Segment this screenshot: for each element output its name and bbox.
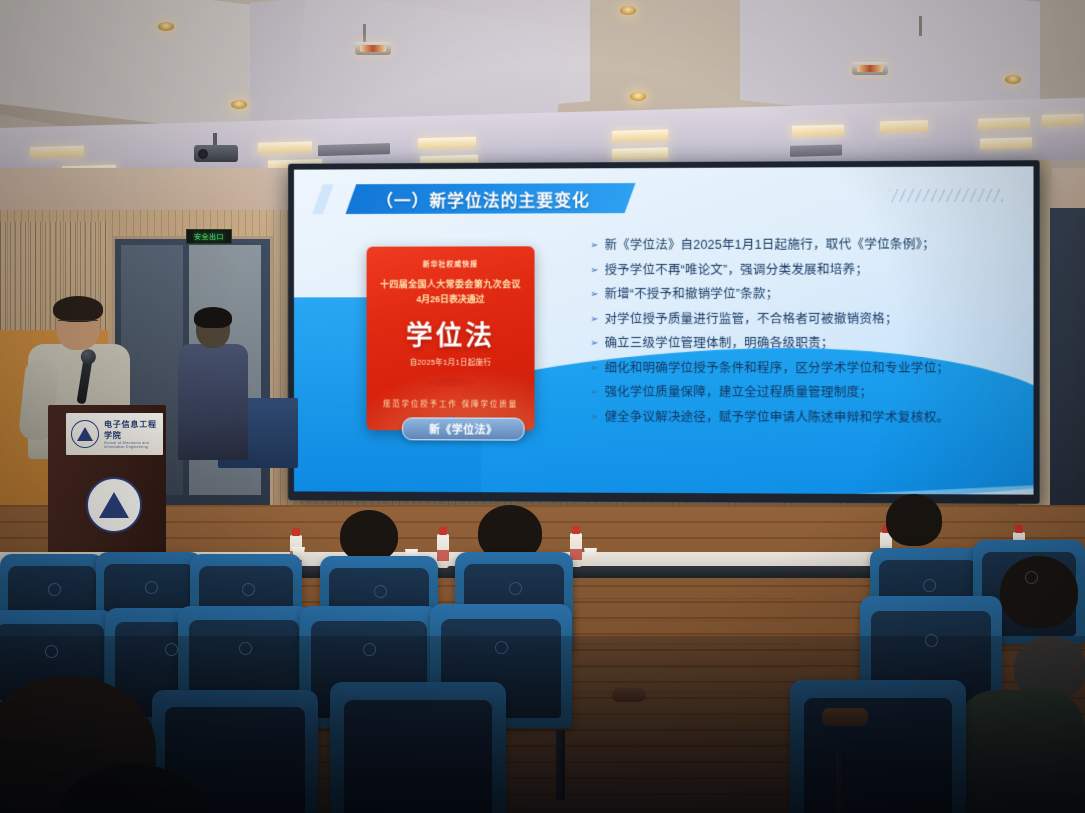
poster-caption-text: 新《学位法》 [429,421,497,437]
conference-hall-room: 安全出口 （一）新学位法的主要变化 新华社权威快报 十四届全国人大常委 [0,0,1085,813]
graduation-cap-base [438,387,464,400]
ceiling-spotlight [630,92,646,101]
right-doorway[interactable] [1050,208,1085,538]
bullet-item: ➢ 新增“不授予和撤销学位”条款； [590,287,1013,302]
podium-nameplate-text: 电子信息工程学院 School of Electronic and Inform… [104,419,163,449]
poster-source-line: 新华社权威快报 [423,259,478,269]
bullet-item: ➢ 确立三级学位管理体制，明确各级职责； [590,336,1013,351]
powerpoint-slide: （一）新学位法的主要变化 新华社权威快报 十四届全国人大常委会第九次会议 4月2… [294,166,1034,494]
seat-detail [374,585,387,598]
audience-head [340,510,398,562]
graduation-cap-top [424,377,477,390]
speaker-hair [53,296,103,322]
ceiling-light-panel [1042,114,1084,126]
ceiling-light-panel [792,124,844,136]
podium-nameplate: 电子信息工程学院 School of Electronic and Inform… [66,413,163,455]
bullet-text: 细化和明确学位授予条件和程序，区分学术学位和专业学位； [605,360,950,375]
seat-detail [509,582,522,595]
bullet-text: 健全争议解决途径，赋予学位申请人陈述申辩和学术复核权。 [605,409,950,425]
bullet-item: ➢ 健全争议解决途径，赋予学位申请人陈述申辩和学术复核权。 [590,409,1013,425]
led-presentation-screen[interactable]: （一）新学位法的主要变化 新华社权威快报 十四届全国人大常委会第九次会议 4月2… [288,160,1040,504]
ceiling-light-panel [30,146,84,159]
poster-slogan: 规范学位授予工作 保障学位质量 [383,399,518,410]
seat-detail [1025,571,1038,584]
seat-detail [48,583,61,596]
bullet-arrow-icon: ➢ [590,238,598,253]
technician-hair [194,307,232,328]
track-light-stem [919,16,922,36]
ceiling-air-vent [790,144,842,156]
ceiling-light-panel [980,137,1032,149]
emergency-exit-sign: 安全出口 [186,229,232,244]
technician-torso [178,344,248,460]
bullet-item: ➢ 强化学位质量保障，建立全过程质量管理制度； [590,385,1013,401]
screenshot-root: 安全出口 （一）新学位法的主要变化 新华社权威快报 十四届全国人大常委 [0,0,1085,813]
slide-title-banner: （一）新学位法的主要变化 [318,182,631,214]
institution-name-en: School of Electronic and Information Eng… [104,441,163,449]
bullet-arrow-icon: ➢ [590,263,598,278]
seat-detail [242,583,255,596]
bullet-arrow-icon: ➢ [590,336,598,351]
paper-cup [584,548,597,561]
seat-detail [145,581,158,594]
speaker-glasses-icon [58,320,98,328]
ceiling-light-panel [978,117,1030,129]
bullet-text: 授予学位不再“唯论文”，强调分类发展和培养； [605,262,869,277]
bullet-arrow-icon: ➢ [590,409,598,424]
seat-detail [923,579,936,592]
audience-head [886,494,942,546]
bullet-item: ➢ 对学位授予质量进行监管，不合格者可被撤销资格； [590,311,1013,326]
ceiling-spotlight [231,100,247,109]
ceiling-spotlight [1005,75,1021,84]
poster-caption-plate: 新《学位法》 [402,417,525,440]
audience-head [1000,556,1078,628]
podium-seal-emblem [86,477,142,533]
title-plate: （一）新学位法的主要变化 [346,183,636,214]
bullet-text: 确立三级学位管理体制，明确各级职责； [605,336,834,351]
projector-lens [198,149,208,159]
institution-name-cn: 电子信息工程学院 [104,419,163,441]
lectern-podium: 电子信息工程学院 School of Electronic and Inform… [48,405,166,565]
bullet-text: 新《学位法》自2025年1月1日起施行，取代《学位条例》； [605,237,935,253]
poster-effective-date: 自2025年1月1日起施行 [410,357,492,368]
poster-session-line-2: 4月26日表决通过 [416,292,484,305]
seat-detail [239,642,252,655]
bullet-text: 对学位授予质量进行监管，不合格者可被撤销资格； [605,311,898,326]
slide-title-text: （一）新学位法的主要变化 [376,185,590,211]
ceiling-spotlight [620,6,636,15]
ceiling-track-light [852,62,888,75]
ceiling-light-panel [880,120,928,132]
ceiling-light-panel [612,129,668,142]
bullet-text: 新增“不授予和撤销学位”条款； [605,287,779,302]
bullet-item: ➢ 授予学位不再“唯论文”，强调分类发展和培养； [590,262,1013,278]
ceiling-light-panel [418,137,476,150]
technician-person [178,310,248,460]
degree-law-poster: 新华社权威快报 十四届全国人大常委会第九次会议 4月26日表决通过 学位法 自2… [367,246,535,430]
poster-law-name: 学位法 [406,314,495,353]
bullet-text: 强化学位质量保障，建立全过程质量管理制度； [605,385,873,400]
bullet-item: ➢ 细化和明确学位授予条件和程序，区分学术学位和专业学位； [590,360,1013,375]
ceiling-projector-icon [186,133,240,163]
exit-sign-label: 安全出口 [194,232,224,242]
bullet-arrow-icon: ➢ [590,360,598,375]
ceiling-light-panel [612,147,668,160]
bullet-arrow-icon: ➢ [590,287,598,302]
water-bottle [437,534,449,568]
bullet-arrow-icon: ➢ [590,385,598,400]
ceiling-spotlight [158,22,174,31]
triangle-emblem-icon [71,420,99,448]
foreground-shadow-overlay [0,636,1085,813]
bullet-item: ➢ 新《学位法》自2025年1月1日起施行，取代《学位条例》； [590,237,1013,253]
ceiling-track-light [355,42,391,55]
ceiling-air-vent [318,143,390,156]
ceiling-light-panel [258,141,312,154]
bullet-arrow-icon: ➢ [590,312,598,327]
slide-bullet-list: ➢ 新《学位法》自2025年1月1日起施行，取代《学位条例》； ➢ 授予学位不再… [590,237,1013,435]
slide-hatch-decoration [889,189,1003,203]
graduation-cap-icon [424,377,477,387]
poster-session-line-1: 十四届全国人大常委会第九次会议 [380,277,521,290]
